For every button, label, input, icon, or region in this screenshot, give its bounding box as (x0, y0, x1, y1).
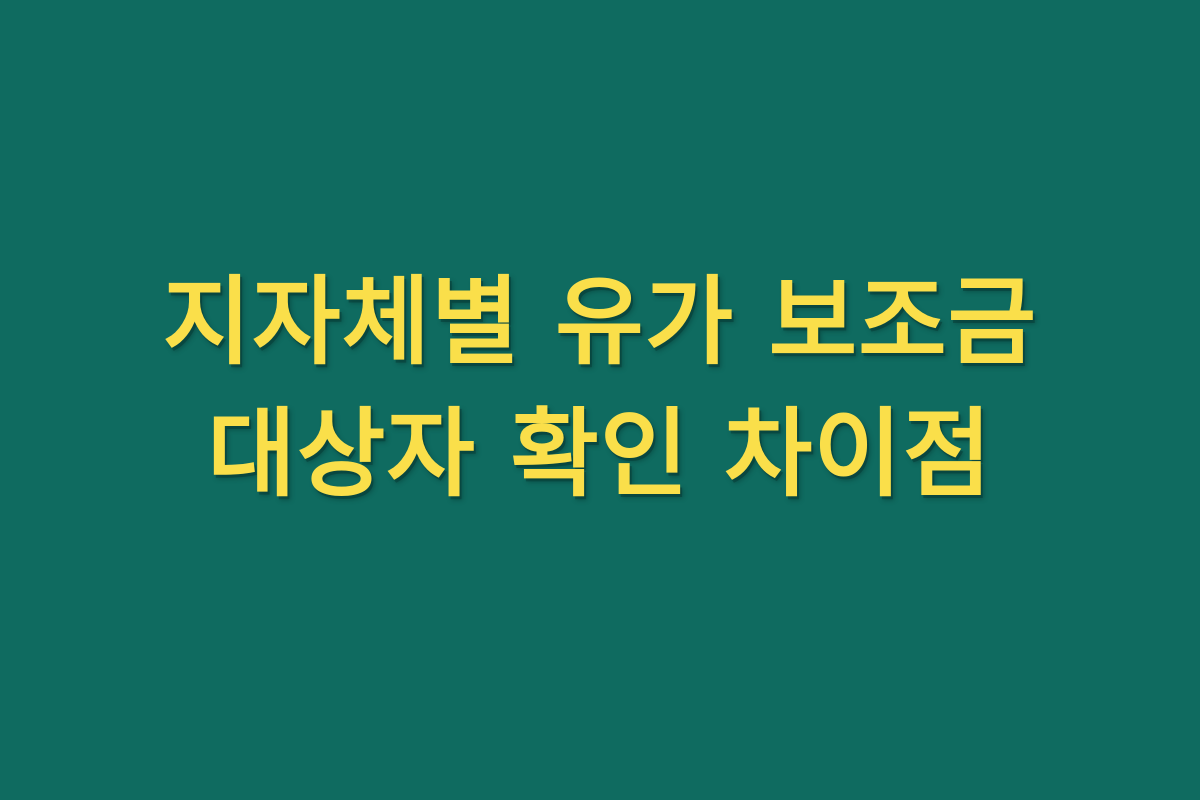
title-line-1: 지자체별 유가 보조금 (0, 256, 1200, 388)
thumbnail-banner: 지자체별 유가 보조금 대상자 확인 차이점 (0, 0, 1200, 800)
title-line-2: 대상자 확인 차이점 (0, 388, 1200, 520)
title-block: 지자체별 유가 보조금 대상자 확인 차이점 (0, 256, 1200, 521)
